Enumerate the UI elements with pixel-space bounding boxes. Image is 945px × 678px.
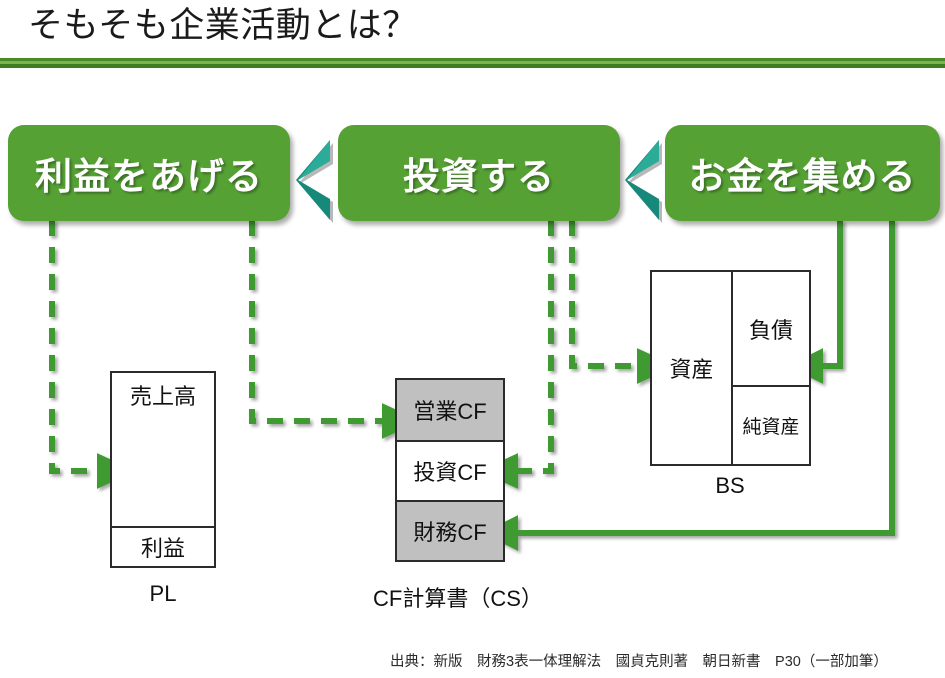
connector-invest-to-investing-cf [511, 220, 551, 471]
cs-cell-operating: 営業CF [397, 380, 503, 440]
slide-canvas: そもそも企業活動とは？ [0, 0, 945, 678]
pl-cell-profit-label: 利益 [141, 531, 185, 563]
bs-cell-liabilities-label: 負債 [749, 313, 793, 345]
bs-caption: BS [680, 473, 780, 499]
pl-caption: PL [113, 581, 213, 607]
chevron-raise-to-invest-icon [625, 139, 665, 221]
connector-invest-to-assets [572, 220, 644, 366]
process-box-raise-money[interactable]: お金を集める [665, 125, 940, 221]
cs-cell-financing: 財務CF [397, 502, 503, 560]
title-rule [0, 58, 945, 68]
process-box-invest[interactable]: 投資する [338, 125, 620, 221]
connector-profit-to-pl [52, 220, 104, 471]
bs-cell-liabilities: 負債 [733, 272, 809, 385]
cs-cell-investing-label: 投資CF [413, 455, 486, 487]
bs-cell-assets: 資産 [652, 272, 731, 464]
process-box-raise-money-label: お金を集める [689, 146, 917, 200]
pl-cell-profit: 利益 [112, 528, 214, 566]
process-box-profit-label: 利益をあげる [35, 146, 263, 200]
bs-cell-net-assets-label: 純資産 [742, 412, 799, 439]
chevron-invest-to-profit-icon [296, 139, 336, 221]
bs-cell-assets-label: 資産 [669, 352, 713, 384]
cs-cell-investing: 投資CF [397, 442, 503, 500]
connector-raise-to-liabilities [816, 220, 840, 366]
cs-cell-financing-label: 財務CF [413, 515, 486, 547]
pl-cell-revenue: 売上高 [112, 373, 214, 526]
bs-cell-net-assets: 純資産 [733, 387, 809, 464]
pl-cell-revenue-label: 売上高 [130, 379, 196, 411]
pl-table: 売上高 利益 [110, 371, 216, 568]
title-rule-band-bottom [0, 64, 945, 68]
cs-cell-operating-label: 営業CF [413, 394, 486, 426]
cs-caption: CF計算書（CS） [368, 581, 548, 613]
bs-table: 資産 負債 純資産 [650, 270, 811, 466]
process-box-invest-label: 投資する [403, 146, 555, 200]
process-box-profit[interactable]: 利益をあげる [8, 125, 290, 221]
source-note: 出典：新版 財務3表一体理解法 國貞克則著 朝日新書 P30（一部加筆） [390, 650, 888, 671]
connector-profit-to-operating-cf [252, 220, 389, 421]
page-title: そもそも企業活動とは？ [28, 2, 418, 50]
cs-table: 営業CF 投資CF 財務CF [395, 378, 505, 562]
